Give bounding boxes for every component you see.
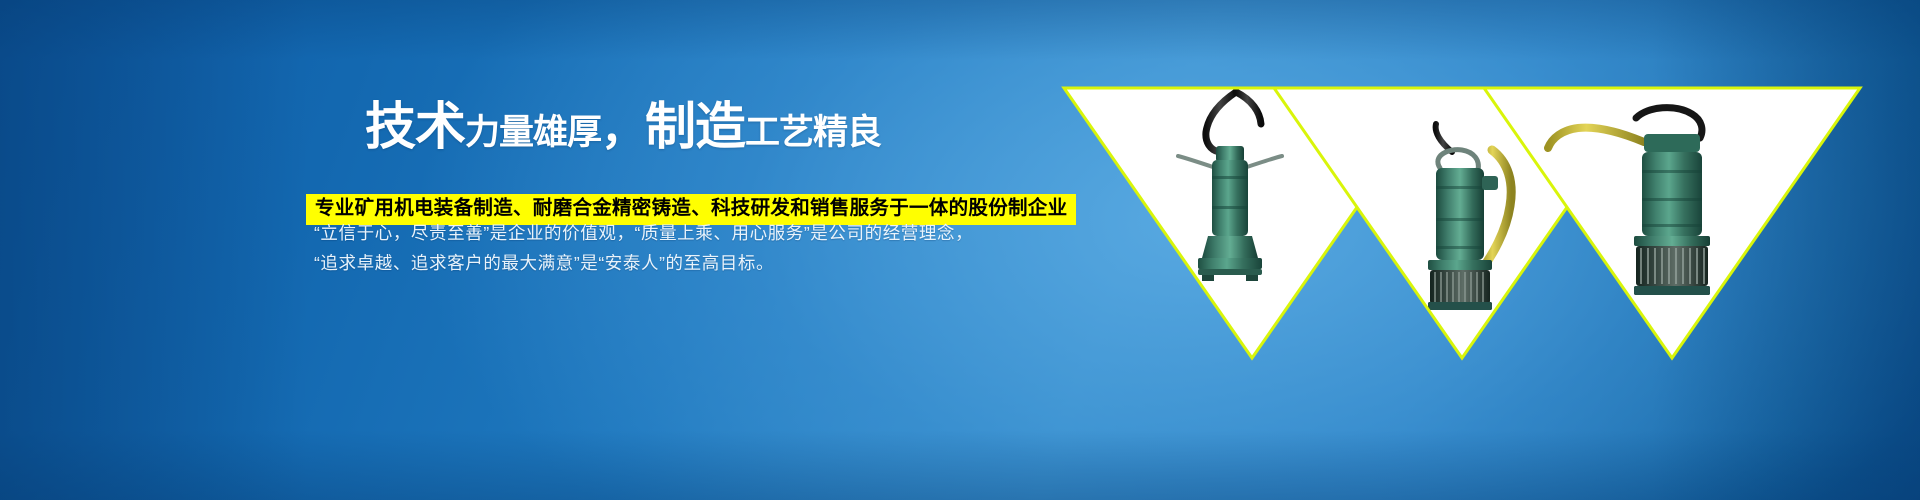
headline-segment-1: 技术 — [365, 98, 465, 155]
hero-banner: 技术力量雄厚，制造工艺精良 专业矿用机电装备制造、耐磨合金精密铸造、科技研发和销… — [0, 0, 1920, 500]
subtitle-line-2: “追求卓越、追求客户的最大满意”是“安泰人”的至高目标。 — [314, 250, 774, 275]
headline-segment-3: 制造 — [645, 98, 745, 155]
tagline-text: 专业矿用机电装备制造、耐磨合金精密铸造、科技研发和销售服务于一体的股份制企业 — [315, 197, 1067, 219]
page-title: 技术力量雄厚，制造工艺精良 — [365, 101, 881, 152]
headline-segment-2: 力量雄厚 — [465, 113, 601, 152]
headline-comma: ， — [601, 105, 645, 154]
subtitle-line-1: “立信于心，尽责至善”是企业的价值观，“质量上乘、用心服务”是公司的经营理念， — [314, 220, 973, 245]
banner-text-block: 技术力量雄厚，制造工艺精良 专业矿用机电装备制造、耐磨合金精密铸造、科技研发和销… — [0, 0, 960, 500]
headline-segment-4: 工艺精良 — [745, 113, 881, 152]
